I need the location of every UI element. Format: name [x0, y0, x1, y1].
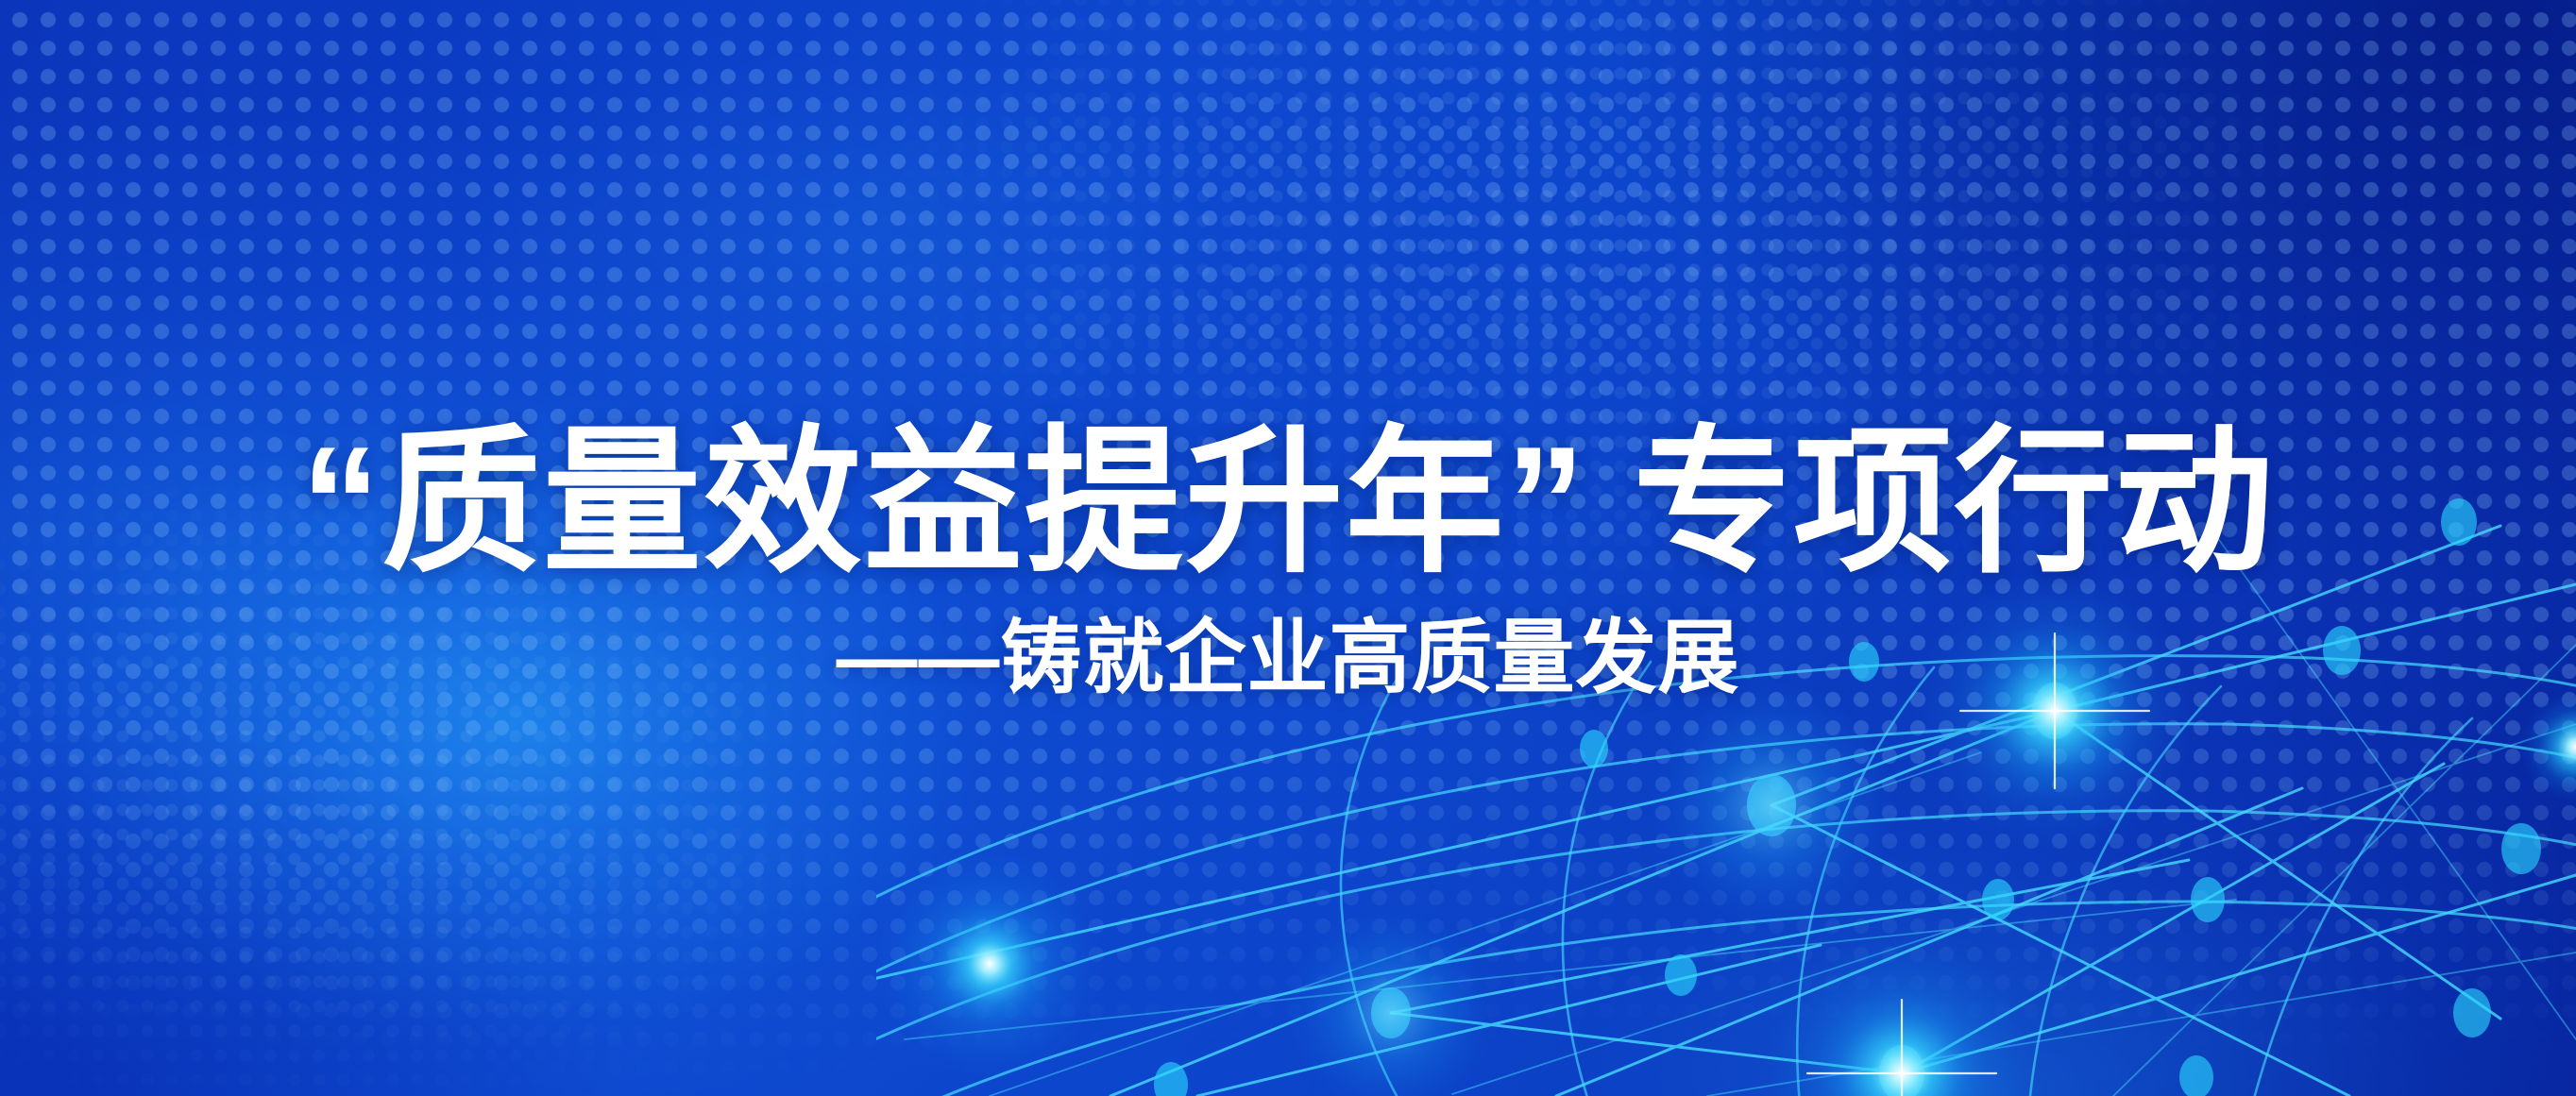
background-topright-shadow [0, 0, 2576, 1096]
background-bottomleft-shadow [0, 0, 2576, 1096]
halftone-dot-pattern-fine [0, 0, 2576, 1096]
background-left-glow [0, 0, 2576, 1096]
background-upper-glow [0, 0, 2576, 1096]
headline-block: “质量效益提升年” 专项行动 ——铸就企业高质量发展 [0, 423, 2576, 699]
background-center-cyan-glow [0, 0, 2576, 1096]
banner-title: “质量效益提升年” 专项行动 [0, 423, 2576, 582]
background-base-gradient [0, 0, 2576, 1096]
promotional-banner: “质量效益提升年” 专项行动 ——铸就企业高质量发展 [0, 0, 2576, 1096]
halftone-dot-pattern [0, 0, 2576, 1096]
globe-network-graphic [876, 435, 2576, 1096]
banner-subtitle: ——铸就企业高质量发展 [0, 617, 2576, 699]
background-bottomright-glow [0, 0, 2576, 1096]
